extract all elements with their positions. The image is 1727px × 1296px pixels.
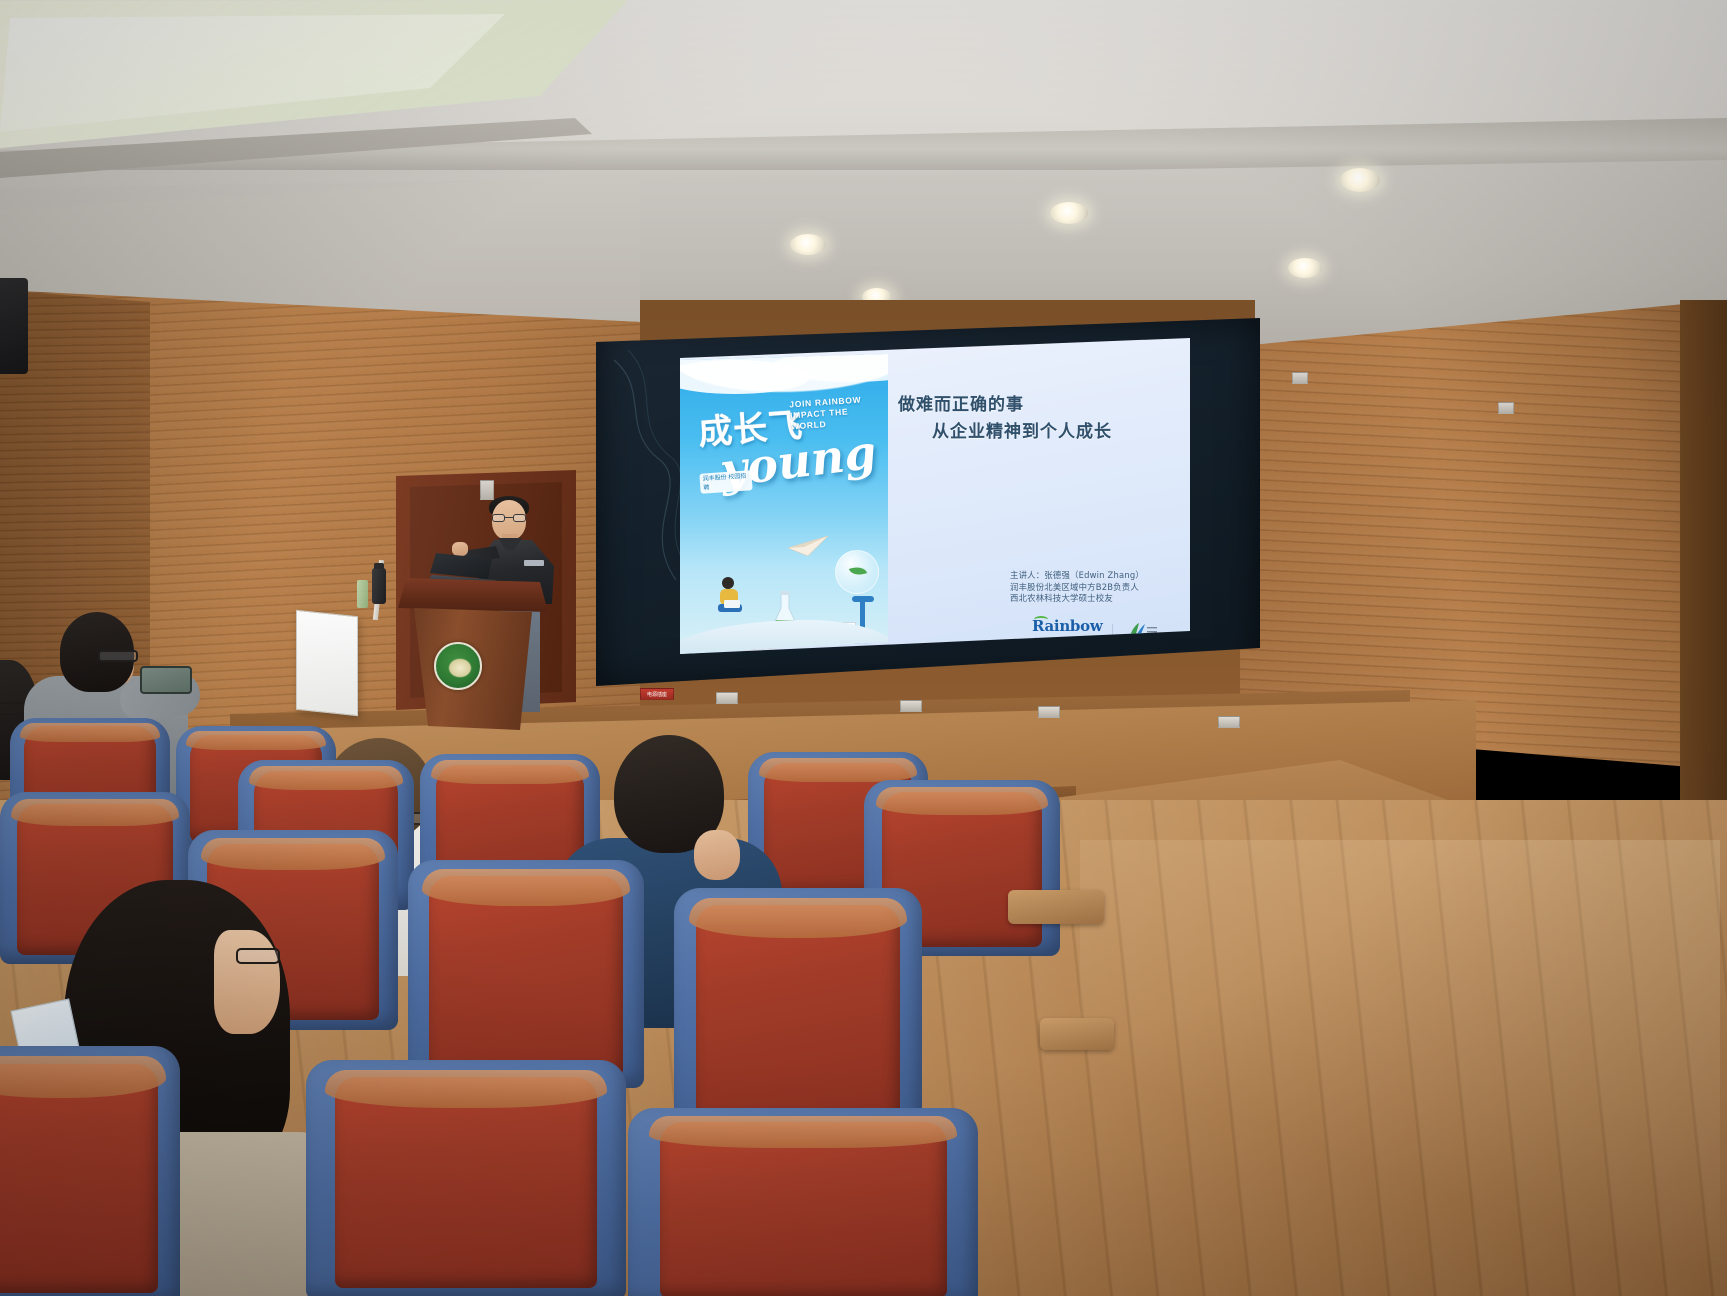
floor-highlight [1080,840,1720,1260]
speaker-line-1: 主讲人：张德强（Edwin Zhang） [1010,570,1190,582]
paper-plane-icon [788,536,830,556]
presentation-slide: 成长飞 JOIN RAINBOW IMPACT THE WORLD young … [680,338,1190,654]
smartphone-icon[interactable] [140,666,192,694]
podium [398,578,548,730]
slide-title-line-1: 做难而正确的事 [898,395,1024,415]
stage-floor-outlet[interactable] [1038,706,1060,718]
poster-tagline-badge: 润丰股份 校园招聘 [699,470,752,494]
presenter-shirt-logo [524,560,544,566]
glasses-icon [98,650,138,662]
wall-vent [1498,402,1514,414]
stage-power-outlet[interactable]: 电源插座 [640,688,674,700]
downlight-icon [790,234,826,255]
rainbow-arc-icon [1034,616,1048,623]
auditorium-seat[interactable] [0,1046,180,1296]
attendee-blue-shirt-hand [694,830,740,880]
seat-armrest [1040,1018,1114,1050]
slide-speaker-info: 主讲人：张德强（Edwin Zhang） 润丰股份北美区域中方B2B负责人 西北… [1010,570,1190,605]
speaker-line-3: 西北农林科技大学硕士校友 [1010,593,1190,605]
wall-speaker [0,278,28,374]
auditorium-seat[interactable] [306,1060,626,1296]
water-bottle [357,580,368,608]
slide-title: 做难而正确的事 从企业精神到个人成长 [898,392,1188,446]
wall-vent [480,480,494,500]
slide-poster-artwork: 成长飞 JOIN RAINBOW IMPACT THE WORLD young … [680,354,888,654]
right-wall-edge [1680,300,1727,820]
downlight-icon [1050,202,1088,224]
stage-floor-outlet[interactable] [1218,716,1240,728]
wall-vent [1292,372,1308,384]
downlight-icon [1340,168,1380,192]
auditorium-seat[interactable] [408,860,644,1088]
university-crest-icon [434,642,482,690]
attendee-long-hair-face [214,930,280,1034]
glasses-icon [236,948,280,964]
poster-english-line-1: JOIN RAINBOW IMPACT THE WORLD [789,393,888,433]
slide-title-line-2: 从企业精神到个人成长 [898,419,1188,446]
downlight-icon [1288,258,1322,278]
poster-en-3: WORLD [791,419,827,431]
glasses-icon [492,514,526,522]
speaker-line-2: 润丰股份北美区域中方B2B负责人 [1010,582,1190,594]
illustration-person-reading [712,576,748,616]
auditorium-seat[interactable] [674,888,922,1136]
lecture-hall-scene: 成长飞 JOIN RAINBOW IMPACT THE WORLD young … [0,0,1727,1296]
auditorium-seat[interactable] [628,1108,978,1296]
stage-floor-outlet[interactable] [900,700,922,712]
portable-whiteboard [296,610,358,717]
stage-floor-outlet[interactable] [716,692,738,704]
laptop-screen [430,553,492,579]
seat-armrest [1008,890,1104,924]
vacuum-flask [372,568,386,604]
